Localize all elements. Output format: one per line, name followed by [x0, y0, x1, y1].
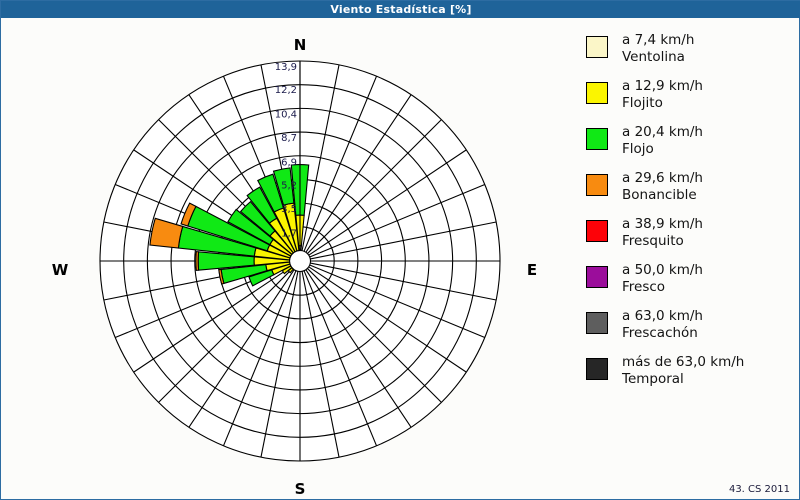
- legend-color-swatch: [586, 220, 608, 242]
- legend-item[interactable]: a 7,4 km/hVentolina: [586, 32, 798, 78]
- legend-label: a 50,0 km/hFresco: [622, 262, 798, 296]
- legend-color-swatch: [586, 82, 608, 104]
- legend-label-name: Bonancible: [622, 187, 798, 204]
- compass-label-west: W: [30, 261, 90, 279]
- legend-item[interactable]: a 12,9 km/hFlojito: [586, 78, 798, 124]
- legend-label: más de 63,0 km/hTemporal: [622, 354, 798, 388]
- legend-label: a 12,9 km/hFlojito: [622, 78, 798, 112]
- compass-label-north: N: [270, 36, 330, 54]
- legend: a 7,4 km/hVentolinaa 12,9 km/hFlojitoa 2…: [568, 18, 798, 498]
- legend-label-name: Frescachón: [622, 325, 798, 342]
- compass-label-east: E: [502, 261, 562, 279]
- legend-item[interactable]: a 38,9 km/hFresquito: [586, 216, 798, 262]
- legend-color-swatch: [586, 128, 608, 150]
- legend-item[interactable]: a 29,6 km/hBonancible: [586, 170, 798, 216]
- legend-label-name: Flojo: [622, 141, 798, 158]
- legend-label: a 29,6 km/hBonancible: [622, 170, 798, 204]
- legend-label-speed: a 38,9 km/h: [622, 216, 798, 233]
- radial-tick-label: 3,5: [281, 204, 297, 215]
- compass-label-south: S: [270, 480, 330, 498]
- legend-label-name: Fresquito: [622, 233, 798, 250]
- legend-item[interactable]: más de 63,0 km/hTemporal: [586, 354, 798, 400]
- legend-label-name: Ventolina: [622, 49, 798, 66]
- legend-color-swatch: [586, 312, 608, 334]
- legend-label-speed: a 12,9 km/h: [622, 78, 798, 95]
- legend-color-swatch: [586, 266, 608, 288]
- radial-tick-label: 13,9: [275, 62, 297, 73]
- legend-label: a 20,4 km/hFlojo: [622, 124, 798, 158]
- radial-tick-label: 5,2: [281, 181, 297, 192]
- legend-label-speed: a 7,4 km/h: [622, 32, 798, 49]
- radial-tick-label: 10,4: [275, 110, 297, 121]
- wind-rose-window: Viento Estadística [%] 1,73,55,26,98,710…: [0, 0, 800, 500]
- legend-color-swatch: [586, 358, 608, 380]
- legend-label-speed: a 50,0 km/h: [622, 262, 798, 279]
- window-title: Viento Estadística [%]: [330, 3, 471, 16]
- wind-rose-petal-segment: [196, 252, 199, 271]
- legend-label-name: Fresco: [622, 279, 798, 296]
- wind-rose-plot: 1,73,55,26,98,710,412,213,9 N E S W: [2, 18, 562, 498]
- legend-item[interactable]: a 63,0 km/hFrescachón: [586, 308, 798, 354]
- radial-tick-label: 12,2: [275, 85, 297, 96]
- legend-label-speed: más de 63,0 km/h: [622, 354, 798, 371]
- radial-tick-label: 1,7: [281, 228, 297, 239]
- wind-rose-svg: 1,73,55,26,98,710,412,213,9: [2, 18, 562, 498]
- legend-label-speed: a 20,4 km/h: [622, 124, 798, 141]
- legend-label: a 63,0 km/hFrescachón: [622, 308, 798, 342]
- legend-label-name: Temporal: [622, 371, 798, 388]
- legend-label-speed: a 29,6 km/h: [622, 170, 798, 187]
- footer-credit: 43. CS 2011: [729, 484, 790, 495]
- legend-label-speed: a 63,0 km/h: [622, 308, 798, 325]
- radial-tick-label: 8,7: [281, 133, 297, 144]
- legend-color-swatch: [586, 174, 608, 196]
- radial-tick-label: 6,9: [281, 157, 297, 168]
- legend-color-swatch: [586, 36, 608, 58]
- legend-label: a 7,4 km/hVentolina: [622, 32, 798, 66]
- legend-label-name: Flojito: [622, 95, 798, 112]
- window-titlebar: Viento Estadística [%]: [1, 1, 800, 18]
- legend-item[interactable]: a 20,4 km/hFlojo: [586, 124, 798, 170]
- legend-label: a 38,9 km/hFresquito: [622, 216, 798, 250]
- legend-item[interactable]: a 50,0 km/hFresco: [586, 262, 798, 308]
- window-content: 1,73,55,26,98,710,412,213,9 N E S W a 7,…: [2, 18, 798, 498]
